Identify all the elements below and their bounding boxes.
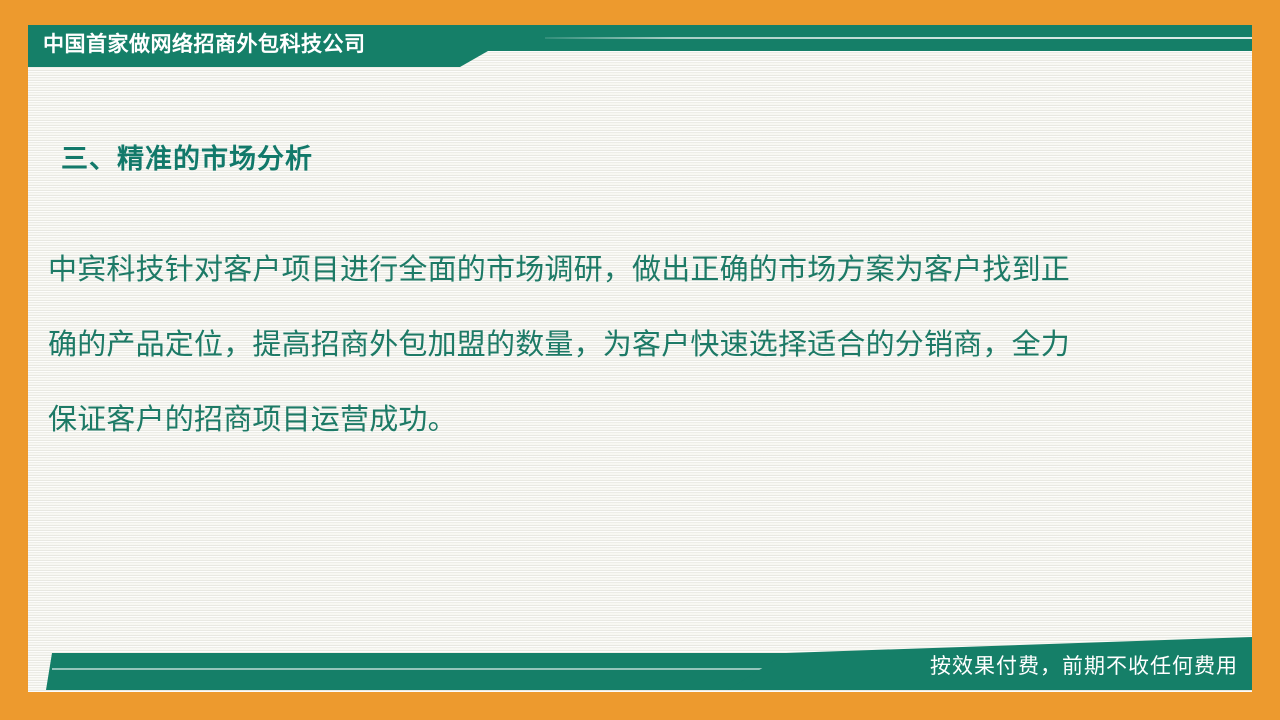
body-line: 中宾科技针对客户项目进行全面的市场调研，做出正确的市场方案为客户找到正 [48, 232, 1208, 307]
footer-slogan: 按效果付费，前期不收任何费用 [818, 646, 1238, 686]
footer-hairline-decoration [52, 668, 782, 670]
body-line: 保证客户的招商项目运营成功。 [48, 382, 1208, 457]
body-line: 确的产品定位，提高招商外包加盟的数量，为客户快速选择适合的分销商，全力 [48, 307, 1208, 382]
section-heading: 三、精准的市场分析 [61, 139, 313, 181]
footer-left-bar [46, 653, 786, 690]
slide-canvas: 中国首家做网络招商外包科技公司 三、精准的市场分析 中宾科技针对客户项目进行全面… [28, 25, 1252, 692]
header-hairline-decoration [545, 37, 1252, 39]
body-paragraph: 中宾科技针对客户项目进行全面的市场调研，做出正确的市场方案为客户找到正 确的产品… [48, 232, 1208, 457]
header-company-tagline: 中国首家做网络招商外包科技公司 [43, 29, 366, 59]
presentation-slide: 中国首家做网络招商外包科技公司 三、精准的市场分析 中宾科技针对客户项目进行全面… [0, 0, 1280, 720]
